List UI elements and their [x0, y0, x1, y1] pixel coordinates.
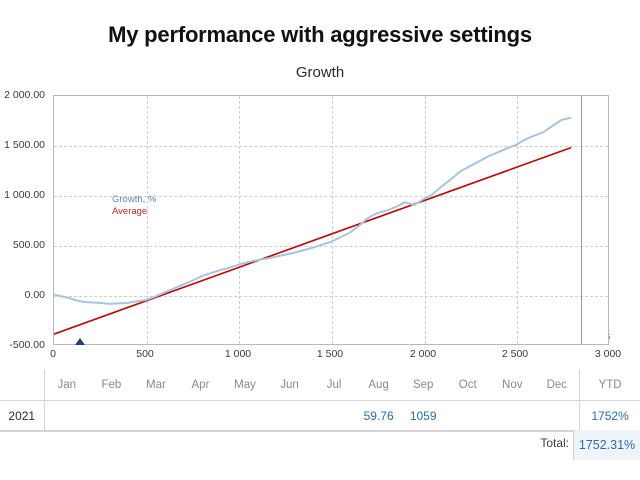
total-value: 1752.31%: [573, 430, 640, 460]
table-row: 2021 59.76 1059 1752%: [0, 401, 640, 432]
monthly-performance-table: Jan Feb Mar Apr May Jun Jul Aug Sep Oct …: [0, 370, 640, 432]
table-header-mar: Mar: [134, 370, 179, 401]
cell-sep: 1059: [401, 401, 446, 432]
table-header-aug: Aug: [356, 370, 401, 401]
x-axis-tick: 3 000: [578, 348, 638, 360]
start-marker-icon: [75, 338, 85, 345]
chart-series-layer: [54, 96, 608, 344]
cell-jul: [312, 401, 357, 432]
table-header-nov: Nov: [490, 370, 535, 401]
x-axis-tick: 0: [23, 348, 83, 360]
y-axis-tick: 500.00: [0, 239, 45, 251]
y-axis-tick: 1 500.00: [0, 139, 45, 151]
table-header-jul: Jul: [312, 370, 357, 401]
cell-nov: [490, 401, 535, 432]
table-header-jun: Jun: [267, 370, 312, 401]
chart-legend: Growth, % Average: [112, 194, 156, 218]
table-header-oct: Oct: [445, 370, 490, 401]
table-header-year: [0, 370, 44, 401]
total-row: Total: 1752.31%: [0, 430, 640, 460]
cell-jan: [44, 401, 89, 432]
y-axis-tick: 1 000.00: [0, 189, 45, 201]
cell-may: [223, 401, 268, 432]
table-header-sep: Sep: [401, 370, 446, 401]
legend-item-growth: Growth, %: [112, 194, 156, 206]
x-axis-tick: 2 000: [393, 348, 453, 360]
x-axis-tick: 500: [115, 348, 175, 360]
cell-aug: 59.76: [356, 401, 401, 432]
series-average-line: [54, 148, 571, 334]
chart-plot-area[interactable]: Growth, % Average: [53, 95, 609, 345]
y-axis-tick: 0.00: [0, 289, 45, 301]
total-label: Total:: [540, 436, 569, 450]
cell-mar: [134, 401, 179, 432]
x-axis-tick: 1 000: [208, 348, 268, 360]
cell-oct: [445, 401, 490, 432]
cell-feb: [89, 401, 134, 432]
cell-ytd: 1752%: [580, 401, 640, 432]
table-header-feb: Feb: [89, 370, 134, 401]
y-axis-tick: 2 000.00: [0, 89, 45, 101]
table-header-row: Jan Feb Mar Apr May Jun Jul Aug Sep Oct …: [0, 370, 640, 401]
table-header-dec: Dec: [535, 370, 580, 401]
cell-apr: [178, 401, 223, 432]
x-axis-tick: 2 500: [485, 348, 545, 360]
x-axis-tick: 1 500: [300, 348, 360, 360]
table-header-ytd: YTD: [580, 370, 640, 401]
row-year-label: 2021: [0, 401, 44, 432]
table-header-may: May: [223, 370, 268, 401]
table-header-apr: Apr: [178, 370, 223, 401]
legend-item-average: Average: [112, 206, 156, 218]
cell-jun: [267, 401, 312, 432]
chart-title: Growth: [0, 64, 640, 81]
table-header-jan: Jan: [44, 370, 89, 401]
page-title: My performance with aggressive settings: [0, 22, 640, 48]
cell-dec: [535, 401, 580, 432]
